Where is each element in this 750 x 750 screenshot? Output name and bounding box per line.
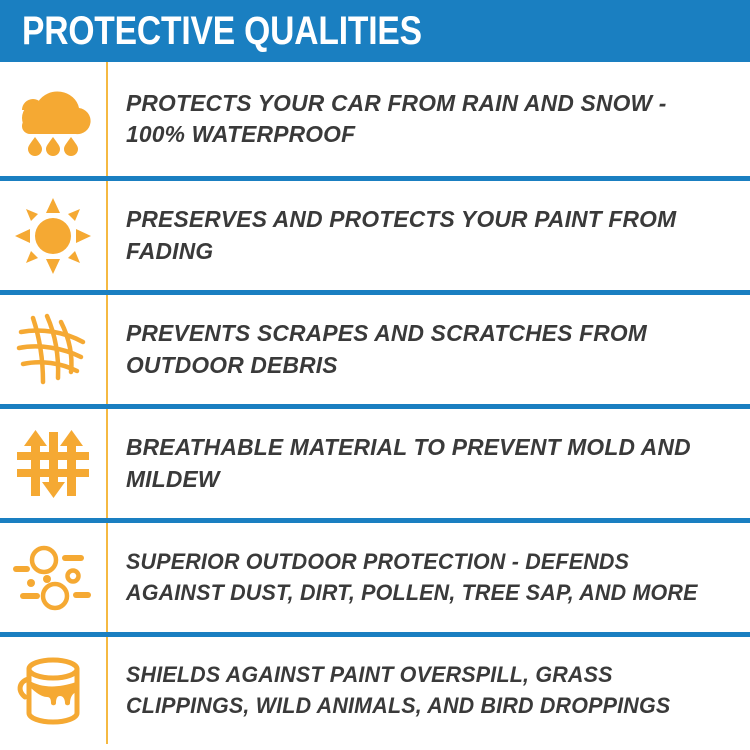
list-item-label: SHIELDS AGAINST PAINT OVERSPILL, GRASS C… <box>126 660 706 720</box>
icon-cell <box>0 62 108 176</box>
sun-icon <box>13 196 93 276</box>
header-banner: PROTECTIVE QUALITIES <box>0 0 750 62</box>
breathable-airflow-arrows-icon <box>13 424 93 504</box>
icon-cell <box>0 181 108 290</box>
list-item-label: PRESERVES AND PROTECTS YOUR PAINT FROM F… <box>126 204 718 267</box>
text-cell: PROTECTS YOUR CAR FROM RAIN AND SNOW - 1… <box>108 88 750 151</box>
list-item-label: SUPERIOR OUTDOOR PROTECTION - DEFENDS AG… <box>126 547 706 607</box>
icon-cell <box>0 523 108 632</box>
list-item: SHIELDS AGAINST PAINT OVERSPILL, GRASS C… <box>0 632 750 744</box>
list-item-label: PREVENTS SCRAPES AND SCRATCHES FROM OUTD… <box>126 318 718 381</box>
protective-qualities-infographic: PROTECTIVE QUALITIES PROTECTS YOUR CAR F… <box>0 0 750 750</box>
icon-cell <box>0 295 108 404</box>
list-item: BREATHABLE MATERIAL TO PREVENT MOLD AND … <box>0 404 750 518</box>
text-cell: BREATHABLE MATERIAL TO PREVENT MOLD AND … <box>108 432 750 495</box>
feature-list: PROTECTS YOUR CAR FROM RAIN AND SNOW - 1… <box>0 62 750 744</box>
list-item: PREVENTS SCRAPES AND SCRATCHES FROM OUTD… <box>0 290 750 404</box>
paint-can-icon <box>13 651 93 731</box>
mesh-net-icon <box>13 310 93 390</box>
icon-cell <box>0 637 108 744</box>
icon-cell <box>0 409 108 518</box>
text-cell: SUPERIOR OUTDOOR PROTECTION - DEFENDS AG… <box>108 547 750 607</box>
dust-particles-icon <box>11 538 95 618</box>
text-cell: SHIELDS AGAINST PAINT OVERSPILL, GRASS C… <box>108 660 750 720</box>
rain-cloud-icon <box>13 79 93 159</box>
text-cell: PREVENTS SCRAPES AND SCRATCHES FROM OUTD… <box>108 318 750 381</box>
list-item-label: PROTECTS YOUR CAR FROM RAIN AND SNOW - 1… <box>126 88 718 151</box>
list-item: PROTECTS YOUR CAR FROM RAIN AND SNOW - 1… <box>0 62 750 176</box>
text-cell: PRESERVES AND PROTECTS YOUR PAINT FROM F… <box>108 204 750 267</box>
list-item: SUPERIOR OUTDOOR PROTECTION - DEFENDS AG… <box>0 518 750 632</box>
list-item: PRESERVES AND PROTECTS YOUR PAINT FROM F… <box>0 176 750 290</box>
page-title: PROTECTIVE QUALITIES <box>22 11 422 51</box>
list-item-label: BREATHABLE MATERIAL TO PREVENT MOLD AND … <box>126 432 718 495</box>
